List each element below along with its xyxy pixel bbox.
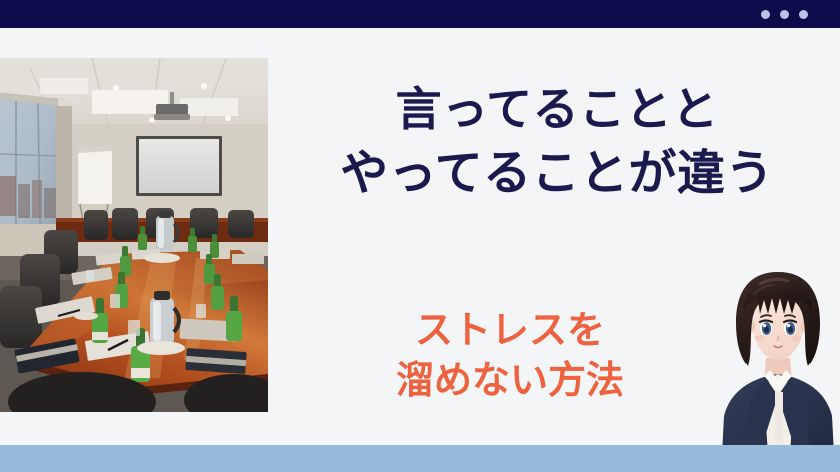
top-bar — [0, 0, 840, 28]
presenter-character — [716, 266, 840, 472]
boardroom-photo — [0, 58, 268, 412]
bottom-bar — [0, 445, 840, 472]
thumbnail-canvas: 言ってることと やってることが違う ストレスを 溜めない方法 — [0, 0, 840, 472]
headline: 言ってることと やってることが違う — [288, 78, 826, 206]
subheadline: ストレスを 溜めない方法 — [300, 306, 720, 406]
menu-dot-1-icon[interactable] — [761, 10, 770, 19]
headline-line-1: 言ってることと — [288, 78, 826, 141]
boardroom-photo-graphic — [0, 58, 268, 412]
menu-dots[interactable] — [761, 10, 808, 19]
headline-line-2: やってることが違う — [288, 141, 826, 206]
subheadline-line-2: 溜めない方法 — [300, 356, 720, 406]
subheadline-line-1: ストレスを — [300, 306, 720, 356]
menu-dot-2-icon[interactable] — [780, 10, 789, 19]
presenter-character-graphic — [716, 266, 840, 472]
menu-dot-3-icon[interactable] — [799, 10, 808, 19]
